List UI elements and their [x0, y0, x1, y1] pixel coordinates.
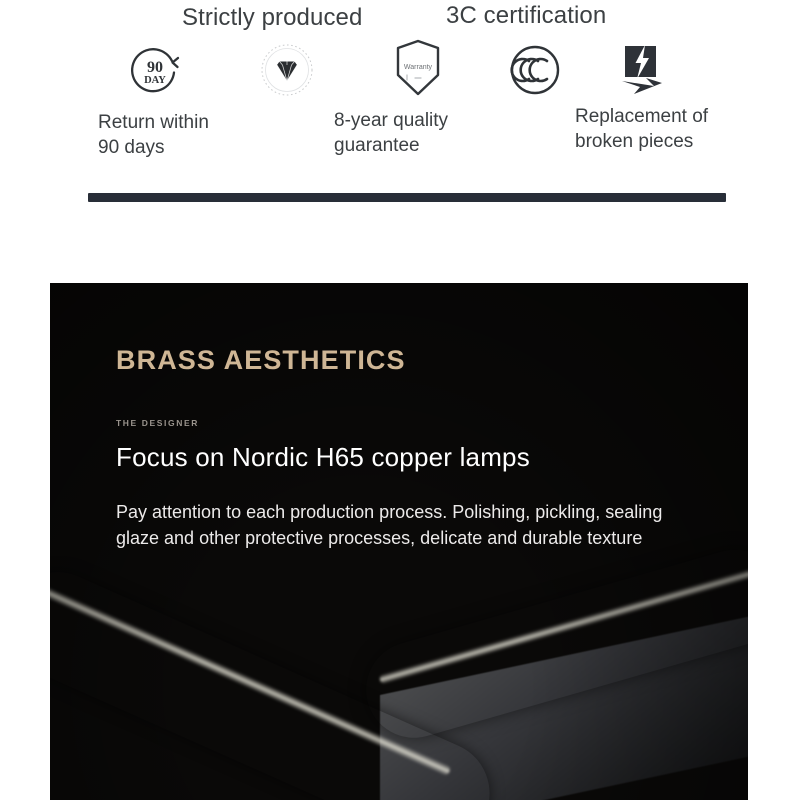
- section-divider: [88, 193, 726, 202]
- trust-badges-section: Strictly produced 3C certification 90 DA…: [0, 0, 800, 222]
- rod-highlight-main: [50, 575, 452, 776]
- brass-aesthetics-feature-panel: BRASS AESTHETICS THE DESIGNER Focus on N…: [50, 283, 748, 800]
- rod-highlight-right: [379, 565, 748, 685]
- caption-line-2: broken pieces: [575, 129, 775, 154]
- caption-replacement-of-broken-pieces: Replacement of broken pieces: [575, 104, 775, 154]
- caption-line-2: 90 days: [98, 135, 278, 160]
- brass-rod-main: [50, 555, 506, 800]
- svg-text:90: 90: [147, 59, 163, 76]
- svg-text:DAY: DAY: [144, 75, 166, 86]
- feature-panel-copy: BRASS AESTHETICS THE DESIGNER Focus on N…: [116, 346, 718, 551]
- caption-line-2: guarantee: [334, 133, 524, 158]
- brand-title: BRASS AESTHETICS: [116, 346, 718, 376]
- eyebrow-label: THE DESIGNER: [116, 418, 718, 428]
- caption-return-within-90-days: Return within 90 days: [98, 110, 278, 160]
- dark-surface-wedge: [380, 606, 748, 800]
- feature-body-text: Pay attention to each production process…: [116, 499, 676, 551]
- heading-3c-certification: 3C certification: [446, 2, 606, 30]
- heading-strictly-produced: Strictly produced: [182, 4, 362, 32]
- caption-8-year-quality-guarantee: 8-year quality guarantee: [334, 108, 524, 158]
- warranty-shield-icon: Warranty: [383, 36, 453, 100]
- diamond-seal-icon: [252, 38, 322, 102]
- caption-line-1: Replacement of: [575, 104, 775, 129]
- caption-line-1: Return within: [98, 110, 278, 135]
- ninety-day-return-icon: 90 DAY: [120, 38, 190, 102]
- svg-text:Warranty: Warranty: [404, 64, 433, 71]
- caption-line-1: 8-year quality: [334, 108, 524, 133]
- broken-piece-replacement-icon: [607, 36, 677, 100]
- ccc-certification-icon: [500, 38, 570, 102]
- feature-headline: Focus on Nordic H65 copper lamps: [116, 442, 718, 473]
- brass-rod-right: [355, 538, 748, 749]
